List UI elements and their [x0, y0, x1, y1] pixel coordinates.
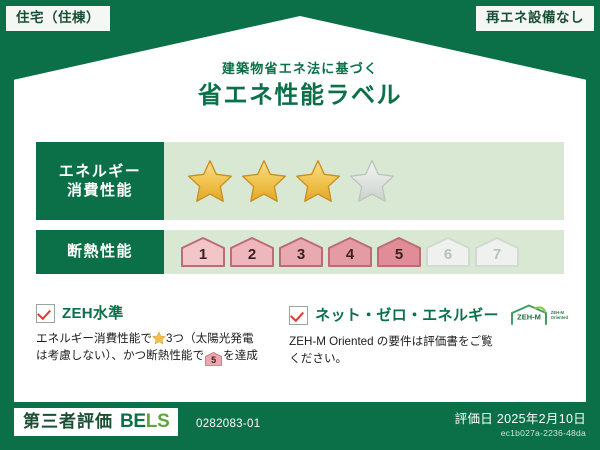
- star-rating: [186, 158, 396, 204]
- note-zeh-m: ネット・ゼロ・エネルギー ZEH-M ZEH-M Oriented: [281, 304, 568, 367]
- zeh-m-logo-icon: ZEH-M ZEH-M Oriented: [509, 304, 568, 326]
- zeh-m-logo-caption-line1: ZEH-M: [551, 310, 564, 315]
- note-zeh-body: エネルギー消費性能で3つ（太陽光発電は考慮しない）、かつ断熱性能で5を達成: [36, 330, 271, 366]
- star-filled-icon: [240, 158, 288, 204]
- notes-section: ZEH水準 エネルギー消費性能で3つ（太陽光発電は考慮しない）、かつ断熱性能で5…: [36, 304, 568, 367]
- insulation-level-value: 7: [493, 247, 501, 268]
- house-panel: 建築物省エネ法に基づく 省エネ性能ラベル エネルギー 消費性能: [14, 16, 586, 402]
- evaluation-date-label: 評価日: [455, 412, 493, 426]
- checkbox-checked-icon: [289, 306, 308, 325]
- bels-logo: BELS: [120, 412, 169, 431]
- insulation-level-value: 3: [297, 247, 305, 268]
- title-subtitle: 建築物省エネ法に基づく: [14, 62, 586, 75]
- note-zeh-title: ZEH水準: [62, 306, 124, 321]
- insulation-level-chip: 4: [327, 236, 373, 268]
- bels-logo-part2: LS: [146, 411, 170, 432]
- note-zeh-m-line1: ZEH-M Oriented の要件は評価書をご覧: [289, 335, 493, 348]
- zeh-m-logo-caption-line2: Oriented: [551, 315, 568, 320]
- insulation-level-chip: 3: [278, 236, 324, 268]
- energy-label-card: 住宅（住棟） 再エネ設備なし 建築物省エネ法に基づく 省エネ性能ラベル エネルギ…: [0, 0, 600, 450]
- row-insulation-performance: 断熱性能 1234567: [36, 230, 564, 274]
- inline-star-icon: [152, 331, 166, 345]
- note-zeh-head: ZEH水準: [36, 304, 271, 323]
- document-uuid: ec1b027a-2236-48da: [501, 428, 586, 438]
- row-insulation-label: 断熱性能: [36, 230, 164, 274]
- page-title: 省エネ性能ラベル: [14, 84, 586, 108]
- row-energy-label-line2: 消費性能: [67, 181, 133, 200]
- third-party-label: 第三者評価: [23, 413, 113, 430]
- zeh-m-logo-caption: ZEH-M Oriented: [551, 310, 568, 321]
- rating-rows: エネルギー 消費性能 断熱性能 1234567: [36, 142, 564, 284]
- note-zeh-m-head: ネット・ゼロ・エネルギー ZEH-M ZEH-M Oriented: [289, 304, 568, 326]
- row-energy-performance: エネルギー 消費性能: [36, 142, 564, 220]
- row-energy-label: エネルギー 消費性能: [36, 142, 164, 220]
- note-zeh-text-a: エネルギー消費性能で: [36, 332, 152, 345]
- evaluation-date: 評価日 2025年2月10日: [455, 408, 586, 427]
- insulation-level-value: 4: [346, 247, 354, 268]
- inline-level-chip: 5: [205, 352, 222, 366]
- footer-bar: 第三者評価 BELS 0282083-01 評価日 2025年2月10日 ec1…: [0, 402, 600, 450]
- star-empty-icon: [348, 158, 396, 204]
- note-zeh: ZEH水準 エネルギー消費性能で3つ（太陽光発電は考慮しない）、かつ断熱性能で5…: [36, 304, 281, 367]
- note-zeh-m-body: ZEH-M Oriented の要件は評価書をご覧 ください。: [289, 333, 568, 367]
- row-insulation-value: 1234567: [164, 230, 564, 274]
- insulation-level-chip: 7: [474, 236, 520, 268]
- insulation-level-value: 1: [199, 247, 207, 268]
- title-block: 建築物省エネ法に基づく 省エネ性能ラベル: [14, 62, 586, 108]
- note-zeh-m-title: ネット・ゼロ・エネルギー: [315, 308, 499, 323]
- bels-logo-part1: BE: [120, 411, 146, 432]
- svg-text:ZEH-M: ZEH-M: [517, 313, 541, 322]
- insulation-level-value: 6: [444, 247, 452, 268]
- row-energy-value: [164, 142, 564, 220]
- insulation-level-chip: 1: [180, 236, 226, 268]
- bels-number: 0282083-01: [196, 418, 260, 430]
- insulation-level-value: 5: [395, 247, 403, 268]
- checkbox-checked-icon: [36, 304, 55, 323]
- inline-level-chip-value: 5: [205, 352, 222, 368]
- evaluation-date-value: 2025年2月10日: [497, 412, 586, 426]
- insulation-level-chip: 6: [425, 236, 471, 268]
- row-insulation-label-line1: 断熱性能: [67, 242, 133, 261]
- note-zeh-text-star: 3つ（太陽光発電: [166, 332, 254, 345]
- note-zeh-text-c: を達成: [223, 349, 258, 362]
- insulation-level-chip: 5: [376, 236, 422, 268]
- star-filled-icon: [186, 158, 234, 204]
- star-filled-icon: [294, 158, 342, 204]
- bels-plate: 第三者評価 BELS: [14, 408, 178, 436]
- row-energy-label-line1: エネルギー: [59, 162, 142, 181]
- insulation-level-scale: 1234567: [180, 236, 520, 268]
- note-zeh-text-b: は考慮しない）、かつ断熱性能で: [36, 349, 204, 362]
- insulation-level-value: 2: [248, 247, 256, 268]
- badge-building-type: 住宅（住棟）: [6, 6, 110, 31]
- insulation-level-chip: 2: [229, 236, 275, 268]
- note-zeh-m-line2: ください。: [289, 352, 347, 365]
- badge-renewable-energy: 再エネ設備なし: [476, 6, 594, 31]
